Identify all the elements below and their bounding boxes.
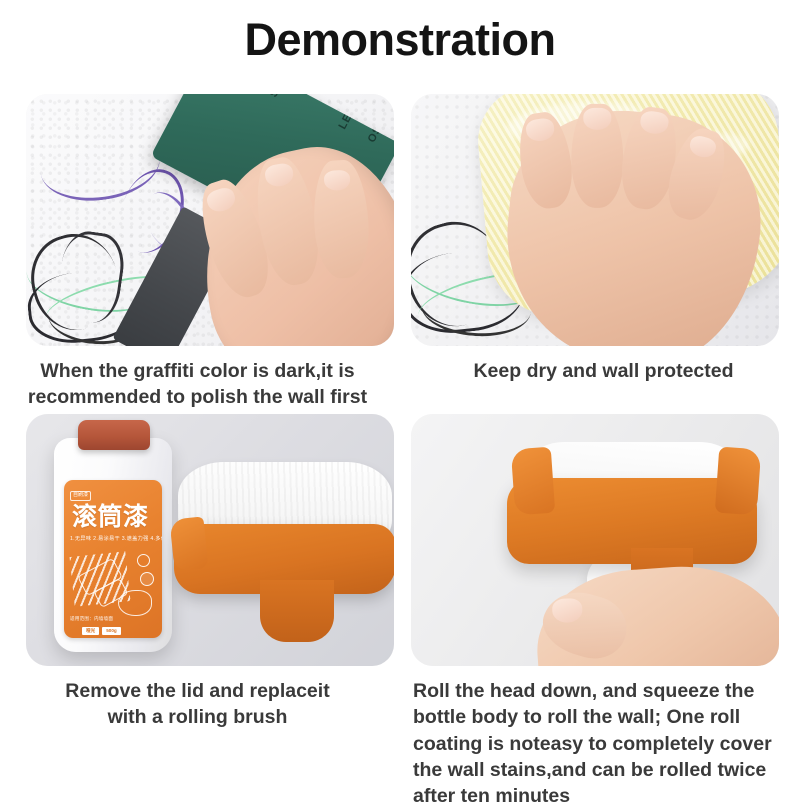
demo-grid: OSTAO LED SHS When the gr <box>0 90 800 809</box>
fingernail <box>639 110 670 136</box>
photo-keep-dry <box>411 94 779 346</box>
finger <box>311 159 371 280</box>
caption-line: Roll the head down, and squeeze the <box>413 678 796 704</box>
roller-brush <box>174 462 392 648</box>
label-art-badge <box>140 572 154 586</box>
caption-line: coating is noteasy to completely cover <box>413 731 796 757</box>
sanding-block-marking: SHS <box>268 94 291 99</box>
label-features: 1.无异味 2.易涂易干 3.遮盖力强 4.多色可选 <box>70 535 156 542</box>
finger <box>571 104 623 208</box>
photo-replace-lid: 自刷漆 滚筒漆 1.无异味 2.易涂易干 3.遮盖力强 4.多色可选 适用范围：… <box>26 414 394 666</box>
fingernail <box>324 170 351 191</box>
demo-step-polish-wall: OSTAO LED SHS When the gr <box>0 90 395 410</box>
photo-polish-wall: OSTAO LED SHS <box>26 94 394 346</box>
caption-line: bottle body to roll the wall; One roll <box>413 704 796 730</box>
label-art-badge <box>137 554 150 567</box>
label-tag: 500g <box>102 627 120 635</box>
roller-holder-ear <box>715 447 762 516</box>
caption-keep-dry: Keep dry and wall protected <box>405 346 800 384</box>
thumbnail <box>552 598 583 623</box>
label-tag: 哑光 <box>82 627 99 635</box>
demo-step-roll-wall: Roll the head down, and squeeze the bott… <box>405 410 800 809</box>
caption-line: the wall stains,and can be rolled twice <box>413 757 796 783</box>
fingernail <box>264 162 295 189</box>
caption-line: with a rolling brush <box>12 704 383 730</box>
caption-roll-wall: Roll the head down, and squeeze the bott… <box>405 666 800 809</box>
label-tags: 哑光 500g <box>82 627 121 635</box>
bottle-cap <box>78 420 150 450</box>
fingernail <box>687 134 718 160</box>
caption-replace-lid: Remove the lid and replaceit with a roll… <box>0 666 395 730</box>
roller-holder-ear <box>169 517 208 572</box>
label-art-hand <box>118 590 152 616</box>
fingernail <box>205 185 238 215</box>
label-illustration <box>70 550 156 624</box>
finger <box>514 109 577 211</box>
caption-line: Keep dry and wall protected <box>419 358 788 384</box>
caption-line: after ten minutes <box>413 783 796 809</box>
label-main-text: 滚筒漆 <box>72 505 149 530</box>
caption-line: Remove the lid and replaceit <box>12 678 383 704</box>
demo-step-replace-lid: 自刷漆 滚筒漆 1.无异味 2.易涂易干 3.遮盖力强 4.多色可选 适用范围：… <box>0 410 395 809</box>
caption-line: When the graffiti color is dark,it is <box>12 358 383 384</box>
photo-roll-wall <box>411 414 779 666</box>
roller-holder-ear <box>511 447 556 516</box>
page-title: Demonstration <box>0 0 800 66</box>
fingernail <box>525 117 556 143</box>
demo-step-keep-dry: Keep dry and wall protected <box>405 90 800 410</box>
roller-stem <box>260 580 334 642</box>
fingernail <box>583 108 611 130</box>
label-badge: 自刷漆 <box>70 491 91 501</box>
demonstration-page: Demonstration OSTAO LED <box>0 0 800 800</box>
caption-polish-wall: When the graffiti color is dark,it is re… <box>0 346 395 410</box>
product-label: 自刷漆 滚筒漆 1.无异味 2.易涂易干 3.遮盖力强 4.多色可选 适用范围：… <box>64 480 162 638</box>
caption-line: recommended to polish the wall first <box>12 384 383 410</box>
label-footer: 适用范围：内墙墙面 <box>70 616 113 622</box>
